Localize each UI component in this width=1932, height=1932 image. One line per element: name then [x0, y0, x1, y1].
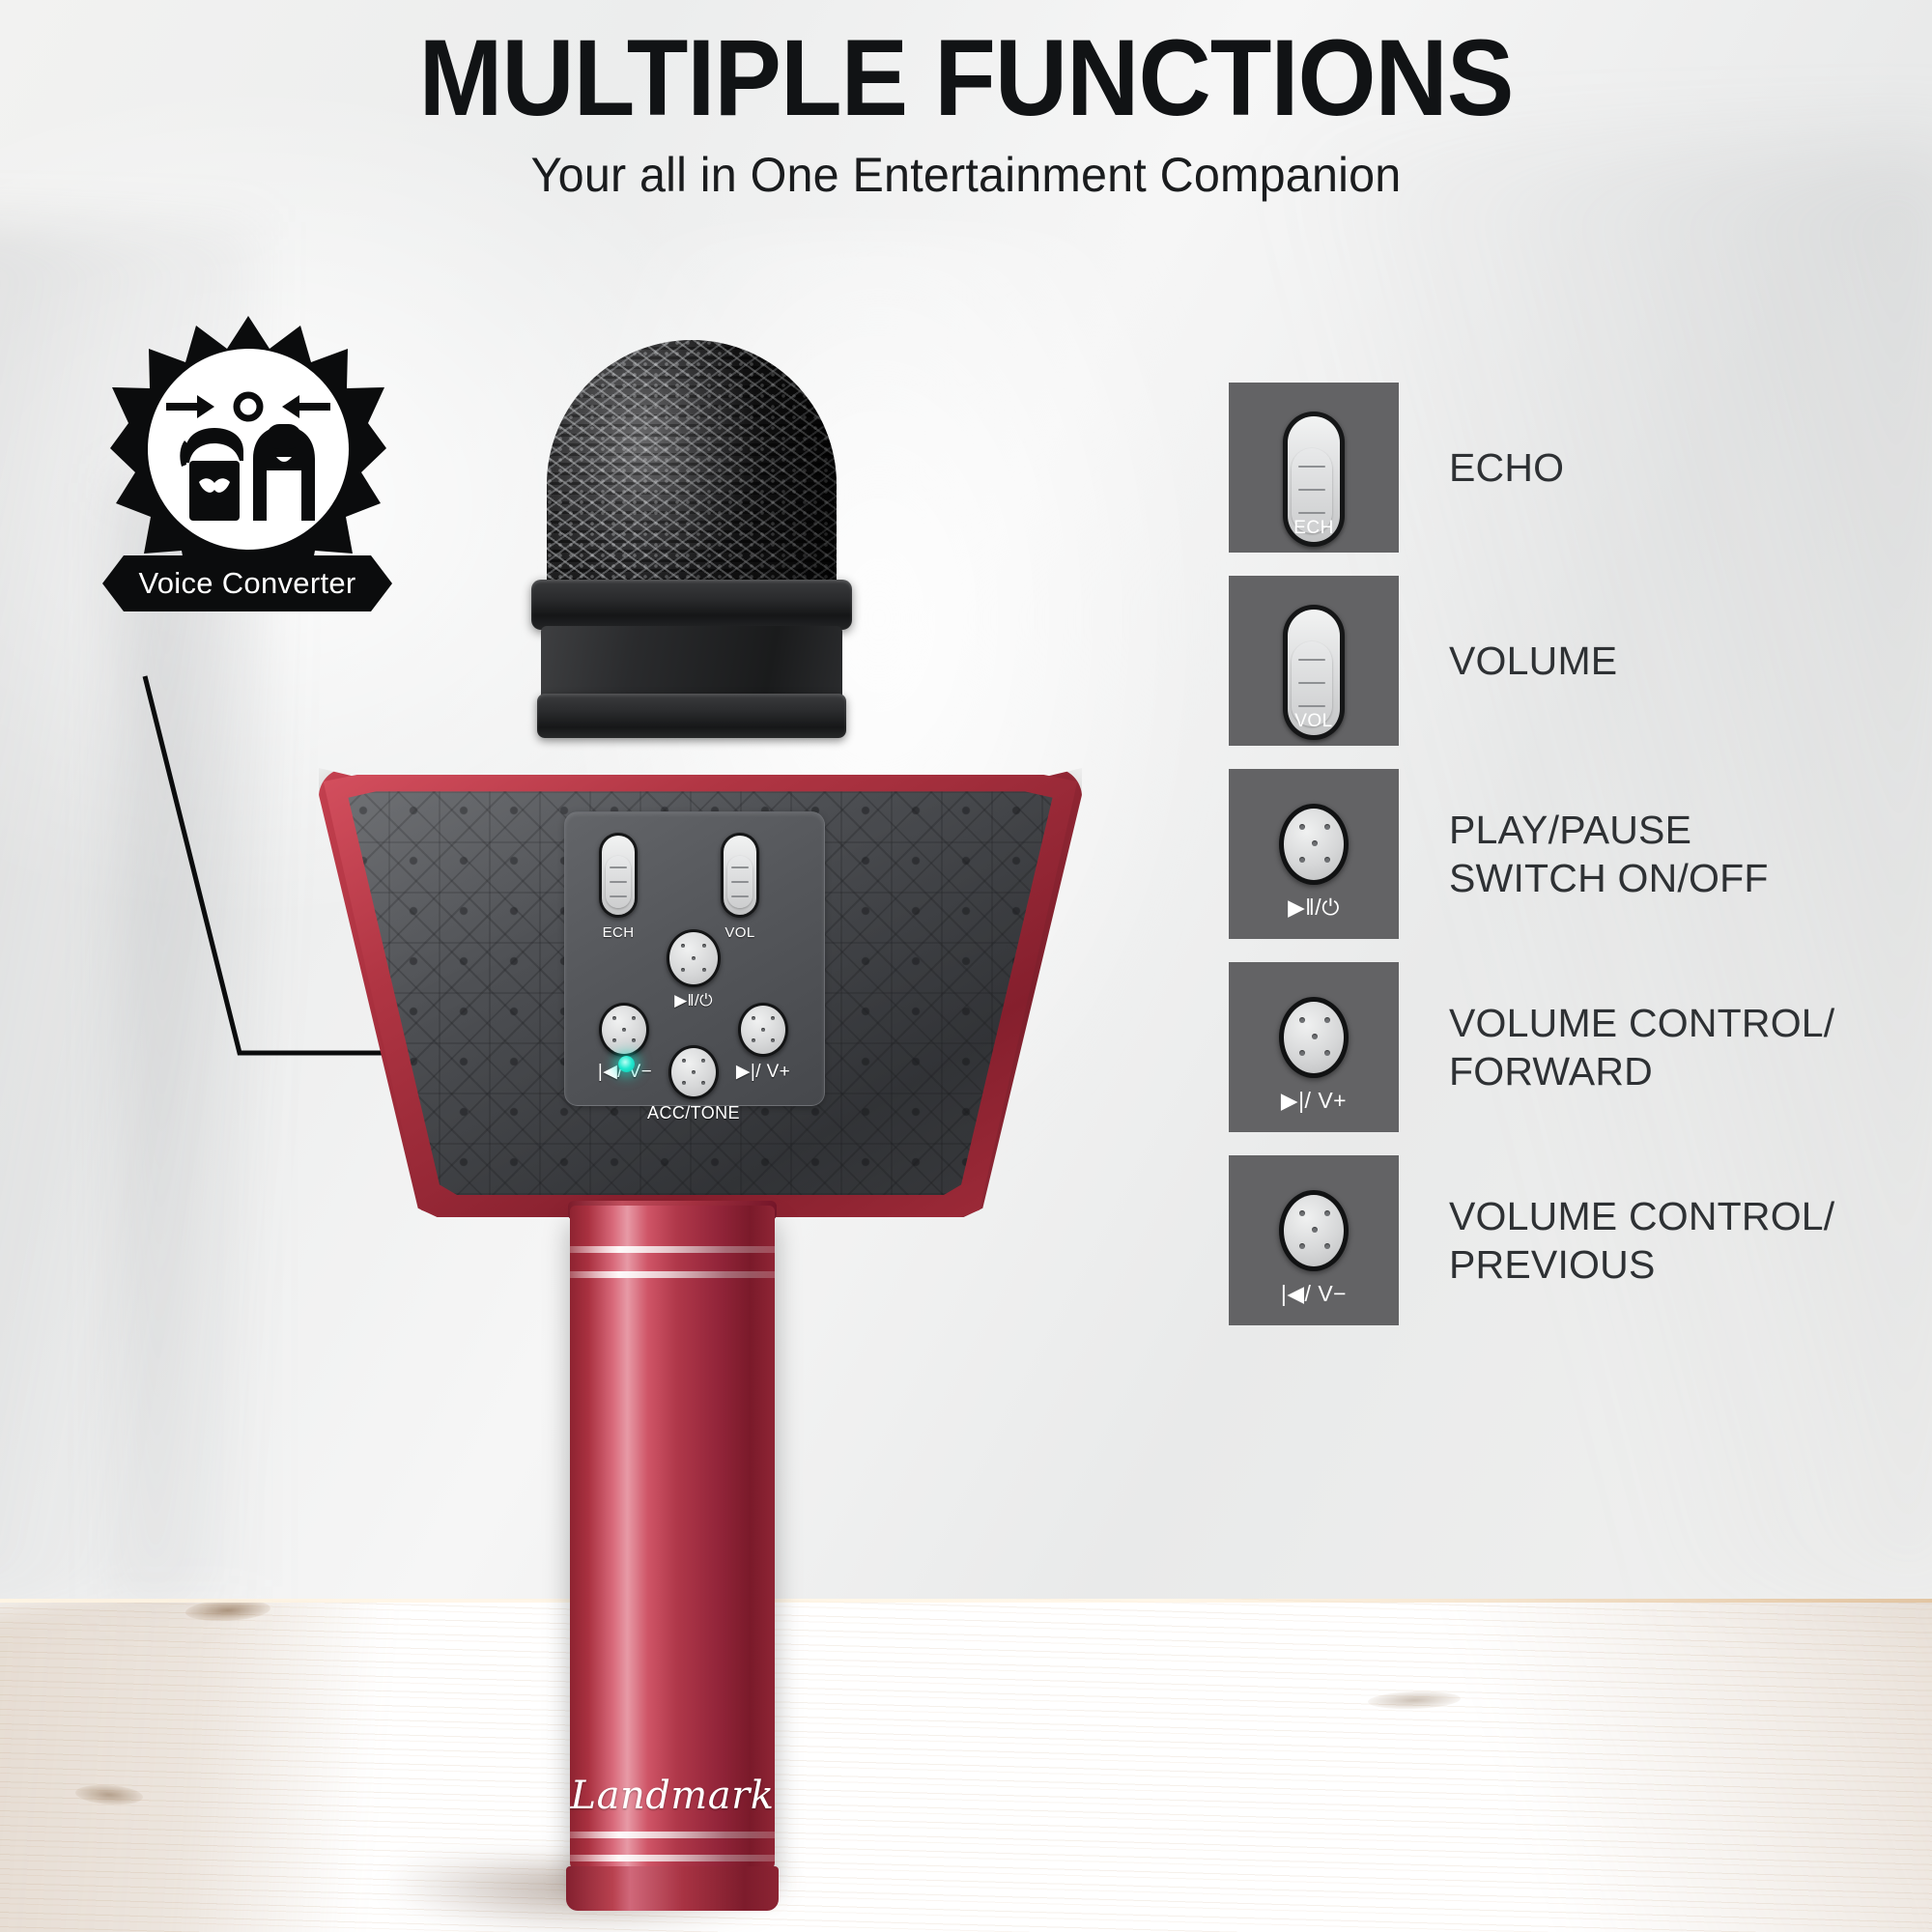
microphone-upper-collar [531, 580, 852, 630]
button-face [671, 1048, 716, 1096]
feature-thumbnail-play-pause: ▶‖/⏻ [1229, 769, 1399, 939]
button-face [602, 1006, 646, 1054]
feature-item-volume-previous: |◀/ V− VOLUME CONTROL/ PREVIOUS [1229, 1155, 1905, 1325]
feature-thumbnail-volume-previous: |◀/ V− [1229, 1155, 1399, 1325]
button-face [1284, 1002, 1344, 1073]
thumbnail-caption: |◀/ V− [1229, 1281, 1399, 1307]
button-face [1284, 809, 1344, 880]
volume-slider-thumb[interactable] [727, 856, 753, 908]
echo-slider[interactable] [599, 833, 638, 918]
echo-slider-label: ECH [593, 924, 643, 941]
brand-logo: Landmark [570, 1774, 775, 1818]
handle-ring [570, 1246, 775, 1253]
next-volume-up-button[interactable] [738, 1003, 788, 1057]
next-volume-up-label: ▶|/ V+ [719, 1061, 808, 1083]
feature-label-echo: ECHO [1449, 443, 1564, 492]
round-button-graphic [1279, 997, 1349, 1078]
play-pause-power-label: ▶‖/⏻ [667, 991, 721, 1010]
thumbnail-caption: ▶|/ V+ [1229, 1088, 1399, 1114]
feature-thumbnail-volume-forward: ▶|/ V+ [1229, 962, 1399, 1132]
thumbnail-caption: VOL [1229, 711, 1399, 732]
acc-tone-label: ACC/TONE [639, 1103, 748, 1123]
volume-slider[interactable] [721, 833, 759, 918]
round-button-graphic [1279, 1190, 1349, 1271]
handle-base [566, 1866, 779, 1911]
feature-thumbnail-echo: ECH [1229, 383, 1399, 553]
feature-list: ECH ECHO VOL VOLUME [1229, 383, 1905, 1349]
feature-item-volume: VOL VOLUME [1229, 576, 1905, 746]
status-led-indicator [618, 1056, 635, 1072]
feature-label-volume-forward: VOLUME CONTROL/ FORWARD [1449, 999, 1834, 1095]
feature-item-play-pause: ▶‖/⏻ PLAY/PAUSE SWITCH ON/OFF [1229, 769, 1905, 939]
button-face [669, 932, 718, 984]
feature-label-play-pause: PLAY/PAUSE SWITCH ON/OFF [1449, 806, 1769, 902]
feature-thumbnail-volume: VOL [1229, 576, 1399, 746]
play-pause-power-button[interactable] [667, 929, 721, 987]
feature-label-volume-previous: VOLUME CONTROL/ PREVIOUS [1449, 1192, 1834, 1289]
handle-ring [570, 1855, 775, 1861]
microphone-handle [570, 1206, 775, 1872]
previous-volume-down-button[interactable] [599, 1003, 649, 1057]
acc-tone-button[interactable] [668, 1045, 719, 1099]
volume-slider-label: VOL [715, 924, 765, 941]
handle-ring [570, 1271, 775, 1278]
button-face [1284, 1195, 1344, 1266]
feature-label-volume: VOLUME [1449, 637, 1617, 685]
thumbnail-caption: ▶‖/⏻ [1229, 895, 1399, 921]
microphone-lower-collar [537, 694, 846, 738]
echo-slider-thumb[interactable] [606, 856, 631, 908]
handle-ring [570, 1832, 775, 1838]
round-button-graphic [1279, 804, 1349, 885]
button-face [741, 1006, 785, 1054]
feature-item-echo: ECH ECHO [1229, 383, 1905, 553]
feature-item-volume-forward: ▶|/ V+ VOLUME CONTROL/ FORWARD [1229, 962, 1905, 1132]
thumbnail-caption: ECH [1229, 518, 1399, 539]
